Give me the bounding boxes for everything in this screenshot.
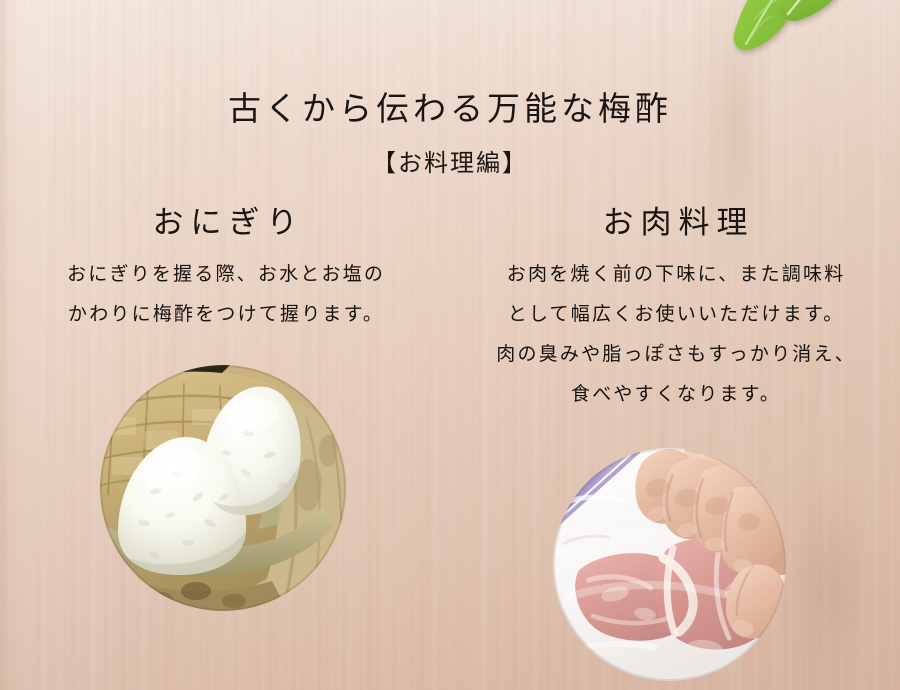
section-meat: お肉料理 お肉を焼く前の下味に、また調味料 として幅広くお使いいただけます。 肉… — [450, 204, 900, 415]
page-root: 古くから伝わる万能な梅酢 【お料理編】 おにぎり おにぎりを握る際、お水とお塩の… — [0, 0, 900, 690]
wood-knot-lower-right — [780, 480, 900, 690]
section-onigiri-body: おにぎりを握る際、お水とお塩の かわりに梅酢をつけて握ります。 — [0, 255, 450, 335]
body-line: 食べやすくなります。 — [450, 375, 900, 415]
page-title: 古くから伝わる万能な梅酢 — [0, 94, 900, 127]
basil-leaves-icon — [676, 0, 886, 64]
meat-photo — [553, 448, 786, 681]
page-subtitle: 【お料理編】 — [0, 152, 900, 176]
body-line: お肉を焼く前の下味に、また調味料 — [450, 255, 900, 295]
body-line: として幅広くお使いいただけます。 — [450, 295, 900, 335]
body-line: かわりに梅酢をつけて握ります。 — [0, 295, 450, 335]
section-meat-body: お肉を焼く前の下味に、また調味料 として幅広くお使いいただけます。 肉の臭みや脂… — [450, 255, 900, 415]
section-onigiri-heading: おにぎり — [0, 204, 450, 241]
body-line: 肉の臭みや脂っぽさもすっかり消え、 — [450, 335, 900, 375]
section-meat-heading: お肉料理 — [450, 204, 900, 241]
onigiri-photo — [100, 365, 346, 611]
body-line: おにぎりを握る際、お水とお塩の — [0, 255, 450, 295]
section-onigiri: おにぎり おにぎりを握る際、お水とお塩の かわりに梅酢をつけて握ります。 — [0, 204, 450, 335]
